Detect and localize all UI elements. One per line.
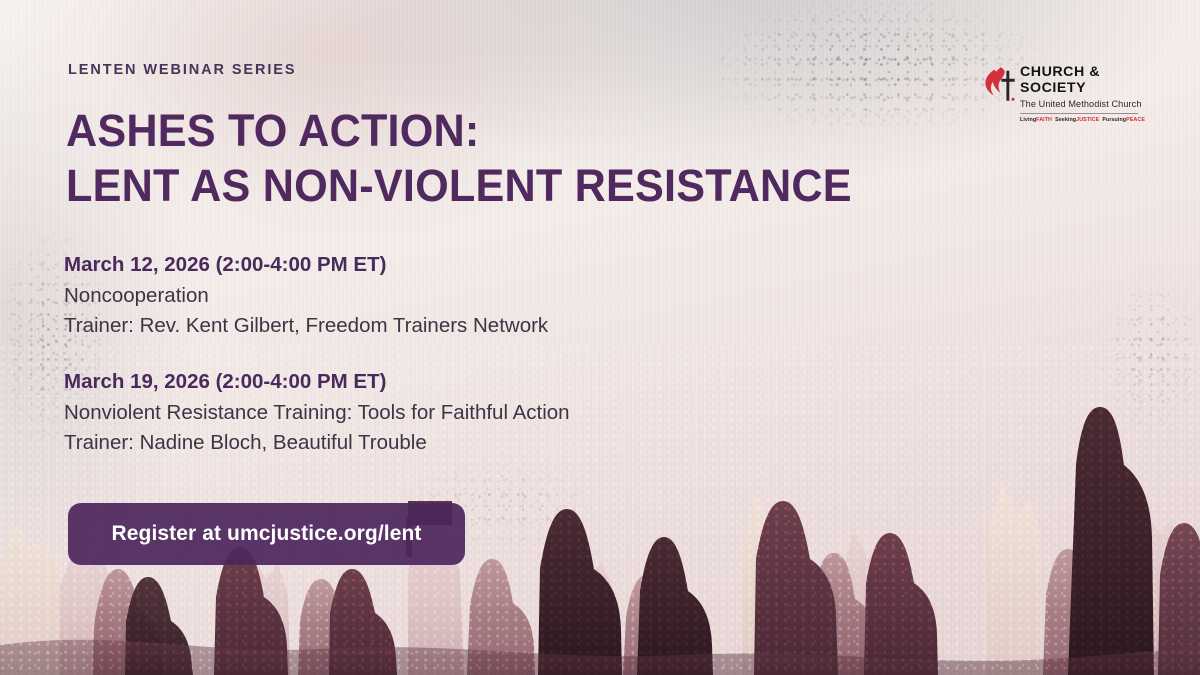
logo-tagline: LivingFAITH SeekingJUSTICE PursuingPEACE (1020, 117, 1143, 123)
logo-divider (1020, 113, 1138, 114)
series-eyebrow-label: LENTEN WEBINAR SERIES (68, 62, 296, 78)
tagline-word-2: Seeking (1055, 117, 1076, 123)
tagline-highlight-peace: PEACE (1126, 117, 1145, 123)
session-item: March 12, 2026 (2:00-4:00 PM ET) Noncoop… (64, 250, 824, 341)
tagline-word-3: Pursuing (1102, 117, 1126, 123)
session-date: March 19, 2026 (2:00-4:00 PM ET) (64, 367, 824, 398)
session-item: March 19, 2026 (2:00-4:00 PM ET) Nonviol… (64, 367, 824, 458)
register-button[interactable]: Register at umcjustice.org/lent (68, 503, 465, 565)
register-button-label: Register at umcjustice.org/lent (111, 522, 421, 546)
logo-subtitle: The United Methodist Church (1020, 99, 1143, 111)
poster-canvas: LENTEN WEBINAR SERIES ASHES TO ACTION: L… (0, 0, 1200, 675)
session-trainer: Trainer: Rev. Kent Gilbert, Freedom Trai… (64, 311, 824, 341)
session-date: March 12, 2026 (2:00-4:00 PM ET) (64, 250, 824, 281)
title-line-2: LENT AS NON-VIOLENT RESISTANCE (66, 159, 930, 214)
tagline-highlight-faith: FAITH (1036, 117, 1052, 123)
cross-and-flame-icon (983, 66, 1017, 102)
title-line-1: ASHES TO ACTION: (66, 104, 930, 159)
session-topic: Noncooperation (64, 281, 824, 311)
page-title: ASHES TO ACTION: LENT AS NON-VIOLENT RES… (66, 104, 930, 214)
session-list: March 12, 2026 (2:00-4:00 PM ET) Noncoop… (64, 250, 824, 459)
tagline-word-1: Living (1020, 117, 1036, 123)
logo-wordmark: CHURCH & SOCIETY The United Methodist Ch… (1020, 64, 1143, 123)
church-and-society-logo: CHURCH & SOCIETY The United Methodist Ch… (983, 64, 1143, 124)
tagline-highlight-justice: JUSTICE (1076, 117, 1099, 123)
session-topic: Nonviolent Resistance Training: Tools fo… (64, 398, 824, 428)
session-trainer: Trainer: Nadine Bloch, Beautiful Trouble (64, 428, 824, 458)
logo-title: CHURCH & SOCIETY (1020, 64, 1143, 97)
